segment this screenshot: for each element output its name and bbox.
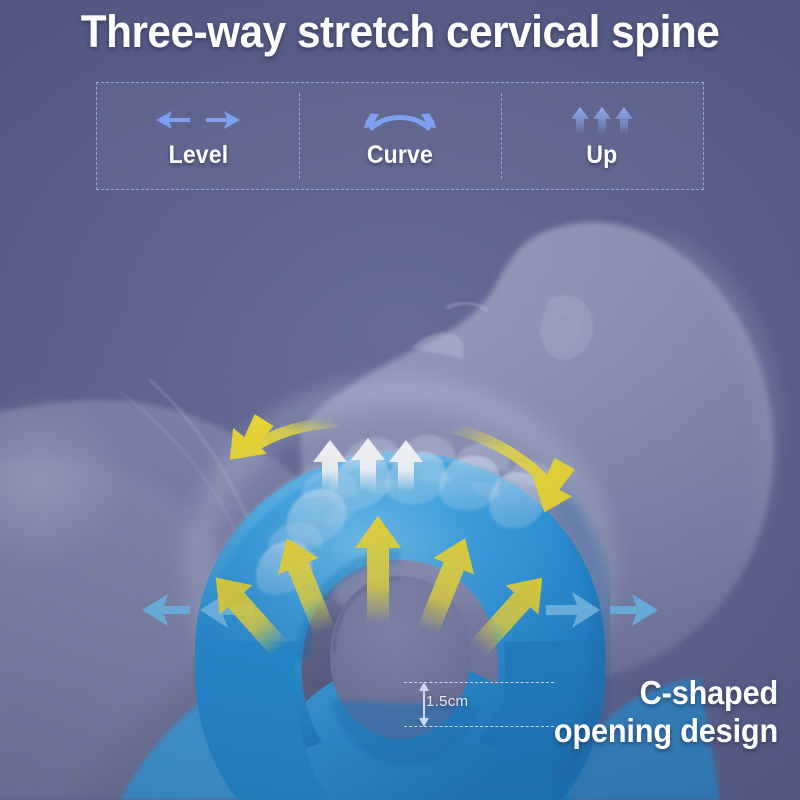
page-title: Three-way stretch cervical spine (24, 4, 776, 60)
feature-label-curve: Curve (367, 141, 433, 170)
feature-cell-level[interactable]: Level (97, 83, 299, 189)
product-marketing-image: Three-way stretch cervical spine Level (0, 0, 800, 800)
triple-up-arrow-icon (562, 103, 642, 137)
measurement-label: 1.5cm (426, 693, 468, 710)
feature-row: Level Curve (96, 82, 704, 190)
feature-label-up: Up (586, 141, 617, 170)
curved-double-arrow-icon (352, 103, 448, 137)
measurement-callout: 1.5cm (404, 676, 554, 738)
feature-cell-curve[interactable]: Curve (299, 83, 501, 189)
feature-label-level: Level (168, 141, 228, 170)
feature-cell-up[interactable]: Up (501, 83, 703, 189)
caption-line-1: C-shaped (554, 674, 778, 712)
double-horizontal-arrow-icon (150, 103, 246, 137)
product-caption: C-shaped opening design (554, 674, 778, 750)
caption-line-2: opening design (554, 712, 778, 750)
